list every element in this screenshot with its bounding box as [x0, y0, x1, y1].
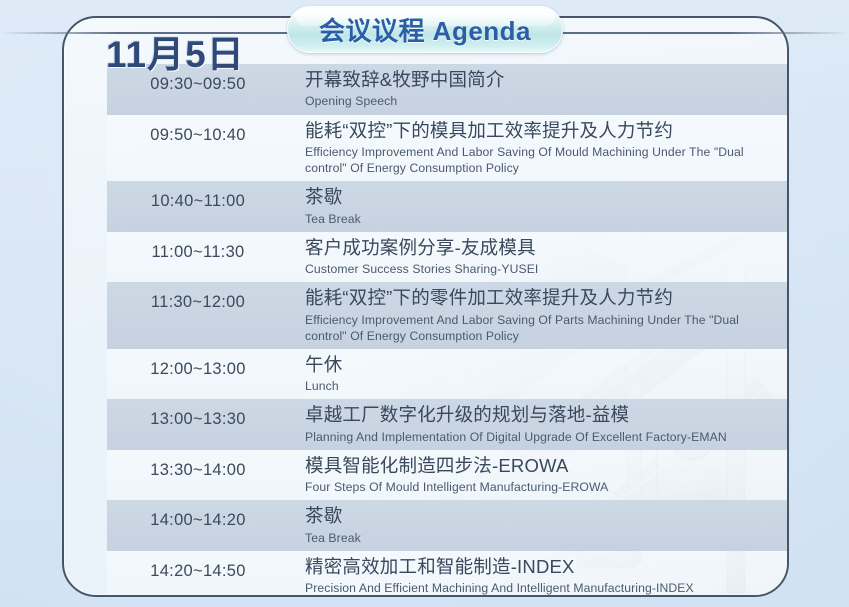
- agenda-row-topic-cn: 开幕致辞&牧野中国简介: [305, 68, 781, 92]
- agenda-row: 13:00~13:30卓越工厂数字化升级的规划与落地-益模Planning An…: [107, 399, 787, 450]
- agenda-title-pill[interactable]: 会议议程 Agenda: [287, 6, 563, 53]
- agenda-row-topic: 精密高效加工和智能制造-INDEXPrecision And Efficient…: [289, 555, 787, 597]
- agenda-row-topic-en: Tea Break: [305, 530, 781, 546]
- agenda-row-topic-en: Customer Success Stories Sharing-YUSEI: [305, 261, 781, 277]
- agenda-row-time: 14:00~14:20: [107, 504, 289, 530]
- agenda-row-topic-cn: 能耗“双控”下的零件加工效率提升及人力节约: [305, 286, 781, 310]
- agenda-row-topic-en: Efficiency Improvement And Labor Saving …: [305, 144, 781, 176]
- agenda-table: 09:30~09:50开幕致辞&牧野中国简介Opening Speech09:5…: [107, 64, 787, 597]
- agenda-row-time: 13:30~14:00: [107, 454, 289, 480]
- agenda-row-topic: 能耗“双控”下的零件加工效率提升及人力节约Efficiency Improvem…: [289, 286, 787, 344]
- agenda-row-topic-cn: 模具智能化制造四步法-EROWA: [305, 454, 781, 478]
- agenda-row-topic: 午休Lunch: [289, 353, 787, 395]
- agenda-row-time: 10:40~11:00: [107, 185, 289, 211]
- agenda-row: 12:00~13:00午休Lunch: [107, 349, 787, 400]
- agenda-row-time: 12:00~13:00: [107, 353, 289, 379]
- agenda-row-topic-cn: 茶歇: [305, 504, 781, 528]
- agenda-row-topic: 能耗“双控”下的模具加工效率提升及人力节约Efficiency Improvem…: [289, 119, 787, 177]
- agenda-row-time: 11:00~11:30: [107, 236, 289, 262]
- agenda-row-topic-en: Efficiency Improvement And Labor Saving …: [305, 312, 781, 344]
- agenda-row-topic-cn: 精密高效加工和智能制造-INDEX: [305, 555, 781, 579]
- agenda-row: 14:20~14:50精密高效加工和智能制造-INDEXPrecision An…: [107, 551, 787, 597]
- agenda-row-topic-en: Lunch: [305, 378, 781, 394]
- agenda-row-topic-cn: 茶歇: [305, 185, 781, 209]
- agenda-title-text: 会议议程 Agenda: [287, 6, 563, 53]
- agenda-row: 14:00~14:20茶歇Tea Break: [107, 500, 787, 551]
- agenda-row-topic-en: Opening Speech: [305, 93, 781, 109]
- agenda-card: 11月5日 09:30~09:50开幕致辞&牧野中国简介Opening Spee…: [62, 16, 789, 597]
- agenda-slide: 11月5日 09:30~09:50开幕致辞&牧野中国简介Opening Spee…: [0, 0, 849, 607]
- agenda-row-topic-en: Precision And Efficient Machining And In…: [305, 580, 781, 596]
- agenda-row-topic: 卓越工厂数字化升级的规划与落地-益模Planning And Implement…: [289, 403, 787, 445]
- agenda-row-topic: 模具智能化制造四步法-EROWAFour Steps Of Mould Inte…: [289, 454, 787, 496]
- agenda-row: 10:40~11:00茶歇Tea Break: [107, 181, 787, 232]
- agenda-row-topic-cn: 能耗“双控”下的模具加工效率提升及人力节约: [305, 119, 781, 143]
- agenda-row-topic-cn: 午休: [305, 353, 781, 377]
- agenda-row: 09:50~10:40能耗“双控”下的模具加工效率提升及人力节约Efficien…: [107, 115, 787, 182]
- agenda-row-time: 09:50~10:40: [107, 119, 289, 145]
- agenda-row: 13:30~14:00模具智能化制造四步法-EROWAFour Steps Of…: [107, 450, 787, 501]
- agenda-row-topic-cn: 客户成功案例分享-友成模具: [305, 236, 781, 260]
- agenda-row-time: 14:20~14:50: [107, 555, 289, 581]
- agenda-row-topic: 开幕致辞&牧野中国简介Opening Speech: [289, 68, 787, 110]
- agenda-row-topic: 客户成功案例分享-友成模具Customer Success Stories Sh…: [289, 236, 787, 278]
- date-heading: 11月5日: [106, 24, 245, 78]
- agenda-row-topic-en: Planning And Implementation Of Digital U…: [305, 429, 781, 445]
- agenda-row-topic-en: Four Steps Of Mould Intelligent Manufact…: [305, 479, 781, 495]
- agenda-row: 11:30~12:00能耗“双控”下的零件加工效率提升及人力节约Efficien…: [107, 282, 787, 349]
- agenda-row: 11:00~11:30客户成功案例分享-友成模具Customer Success…: [107, 232, 787, 283]
- agenda-row-topic: 茶歇Tea Break: [289, 185, 787, 227]
- agenda-row-time: 13:00~13:30: [107, 403, 289, 429]
- agenda-row-topic-cn: 卓越工厂数字化升级的规划与落地-益模: [305, 403, 781, 427]
- agenda-row-topic-en: Tea Break: [305, 211, 781, 227]
- agenda-row-time: 11:30~12:00: [107, 286, 289, 312]
- agenda-row-topic: 茶歇Tea Break: [289, 504, 787, 546]
